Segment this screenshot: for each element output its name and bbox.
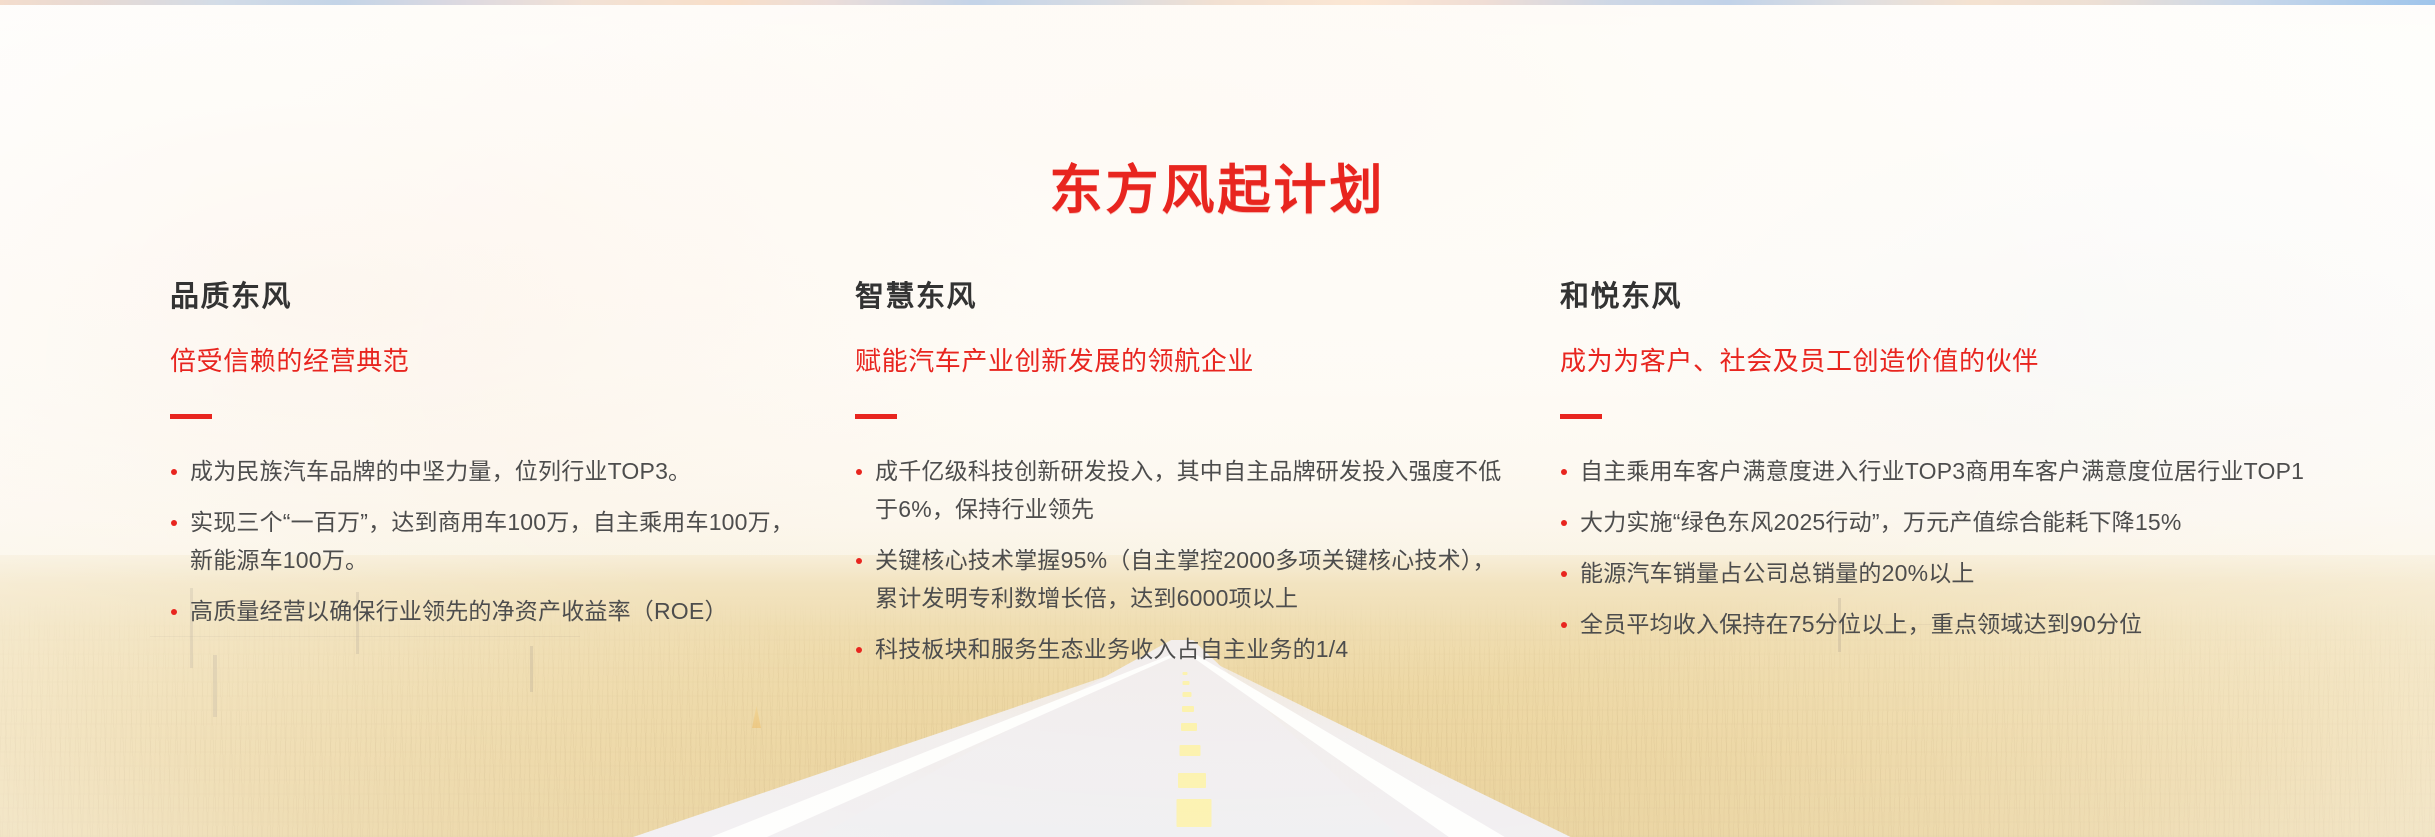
pillar-title: 和悦东风 xyxy=(1560,283,2320,312)
pillar-subtitle: 赋能汽车产业创新发展的领航企业 xyxy=(855,348,1510,374)
pillar-bullet-list: 自主乘用车客户满意度进入行业TOP3商用车客户满意度位居行业TOP1 大力实施“… xyxy=(1560,452,2320,643)
pillar-subtitle: 倍受信赖的经营典范 xyxy=(170,348,810,374)
pillar-column-intelligence: 智慧东风 赋能汽车产业创新发展的领航企业 成千亿级科技创新研发投入，其中自主品牌… xyxy=(855,283,1510,681)
list-item: 自主乘用车客户满意度进入行业TOP3商用车客户满意度位居行业TOP1 xyxy=(1560,452,2320,490)
slide-canvas: 东方风起计划 品质东风 倍受信赖的经营典范 成为民族汽车品牌的中坚力量，位列行业… xyxy=(0,0,2435,837)
list-item: 能源汽车销量占公司总销量的20%以上 xyxy=(1560,554,2320,592)
accent-divider xyxy=(855,414,897,419)
pillar-title: 智慧东风 xyxy=(855,283,1510,312)
slide-content: 东方风起计划 品质东风 倍受信赖的经营典范 成为民族汽车品牌的中坚力量，位列行业… xyxy=(0,0,2435,837)
list-item: 高质量经营以确保行业领先的净资产收益率（ROE） xyxy=(170,592,810,630)
list-item: 全员平均收入保持在75分位以上，重点领域达到90分位 xyxy=(1560,605,2320,643)
pillar-title: 品质东风 xyxy=(170,283,810,312)
list-item: 关键核心技术掌握95%（自主掌控2000多项关键核心技术），累计发明专利数增长倍… xyxy=(855,541,1510,617)
list-item: 成为民族汽车品牌的中坚力量，位列行业TOP3。 xyxy=(170,452,810,490)
pillar-column-quality: 品质东风 倍受信赖的经营典范 成为民族汽车品牌的中坚力量，位列行业TOP3。 实… xyxy=(170,283,810,643)
pillar-column-harmony: 和悦东风 成为为客户、社会及员工创造价值的伙伴 自主乘用车客户满意度进入行业TO… xyxy=(1560,283,2320,656)
list-item: 成千亿级科技创新研发投入，其中自主品牌研发投入强度不低于6%，保持行业领先 xyxy=(855,452,1510,528)
pillar-bullet-list: 成为民族汽车品牌的中坚力量，位列行业TOP3。 实现三个“一百万”，达到商用车1… xyxy=(170,452,810,630)
pillar-bullet-list: 成千亿级科技创新研发投入，其中自主品牌研发投入强度不低于6%，保持行业领先 关键… xyxy=(855,452,1510,668)
list-item: 实现三个“一百万”，达到商用车100万，自主乘用车100万，新能源车100万。 xyxy=(170,503,810,579)
pillar-columns: 品质东风 倍受信赖的经营典范 成为民族汽车品牌的中坚力量，位列行业TOP3。 实… xyxy=(0,283,2435,753)
accent-divider xyxy=(170,414,212,419)
list-item: 大力实施“绿色东风2025行动”，万元产值综合能耗下降15% xyxy=(1560,503,2320,541)
list-item: 科技板块和服务生态业务收入占自主业务的1/4 xyxy=(855,630,1510,668)
accent-divider xyxy=(1560,414,1602,419)
pillar-subtitle: 成为为客户、社会及员工创造价值的伙伴 xyxy=(1560,348,2320,374)
page-title: 东方风起计划 xyxy=(0,162,2435,220)
